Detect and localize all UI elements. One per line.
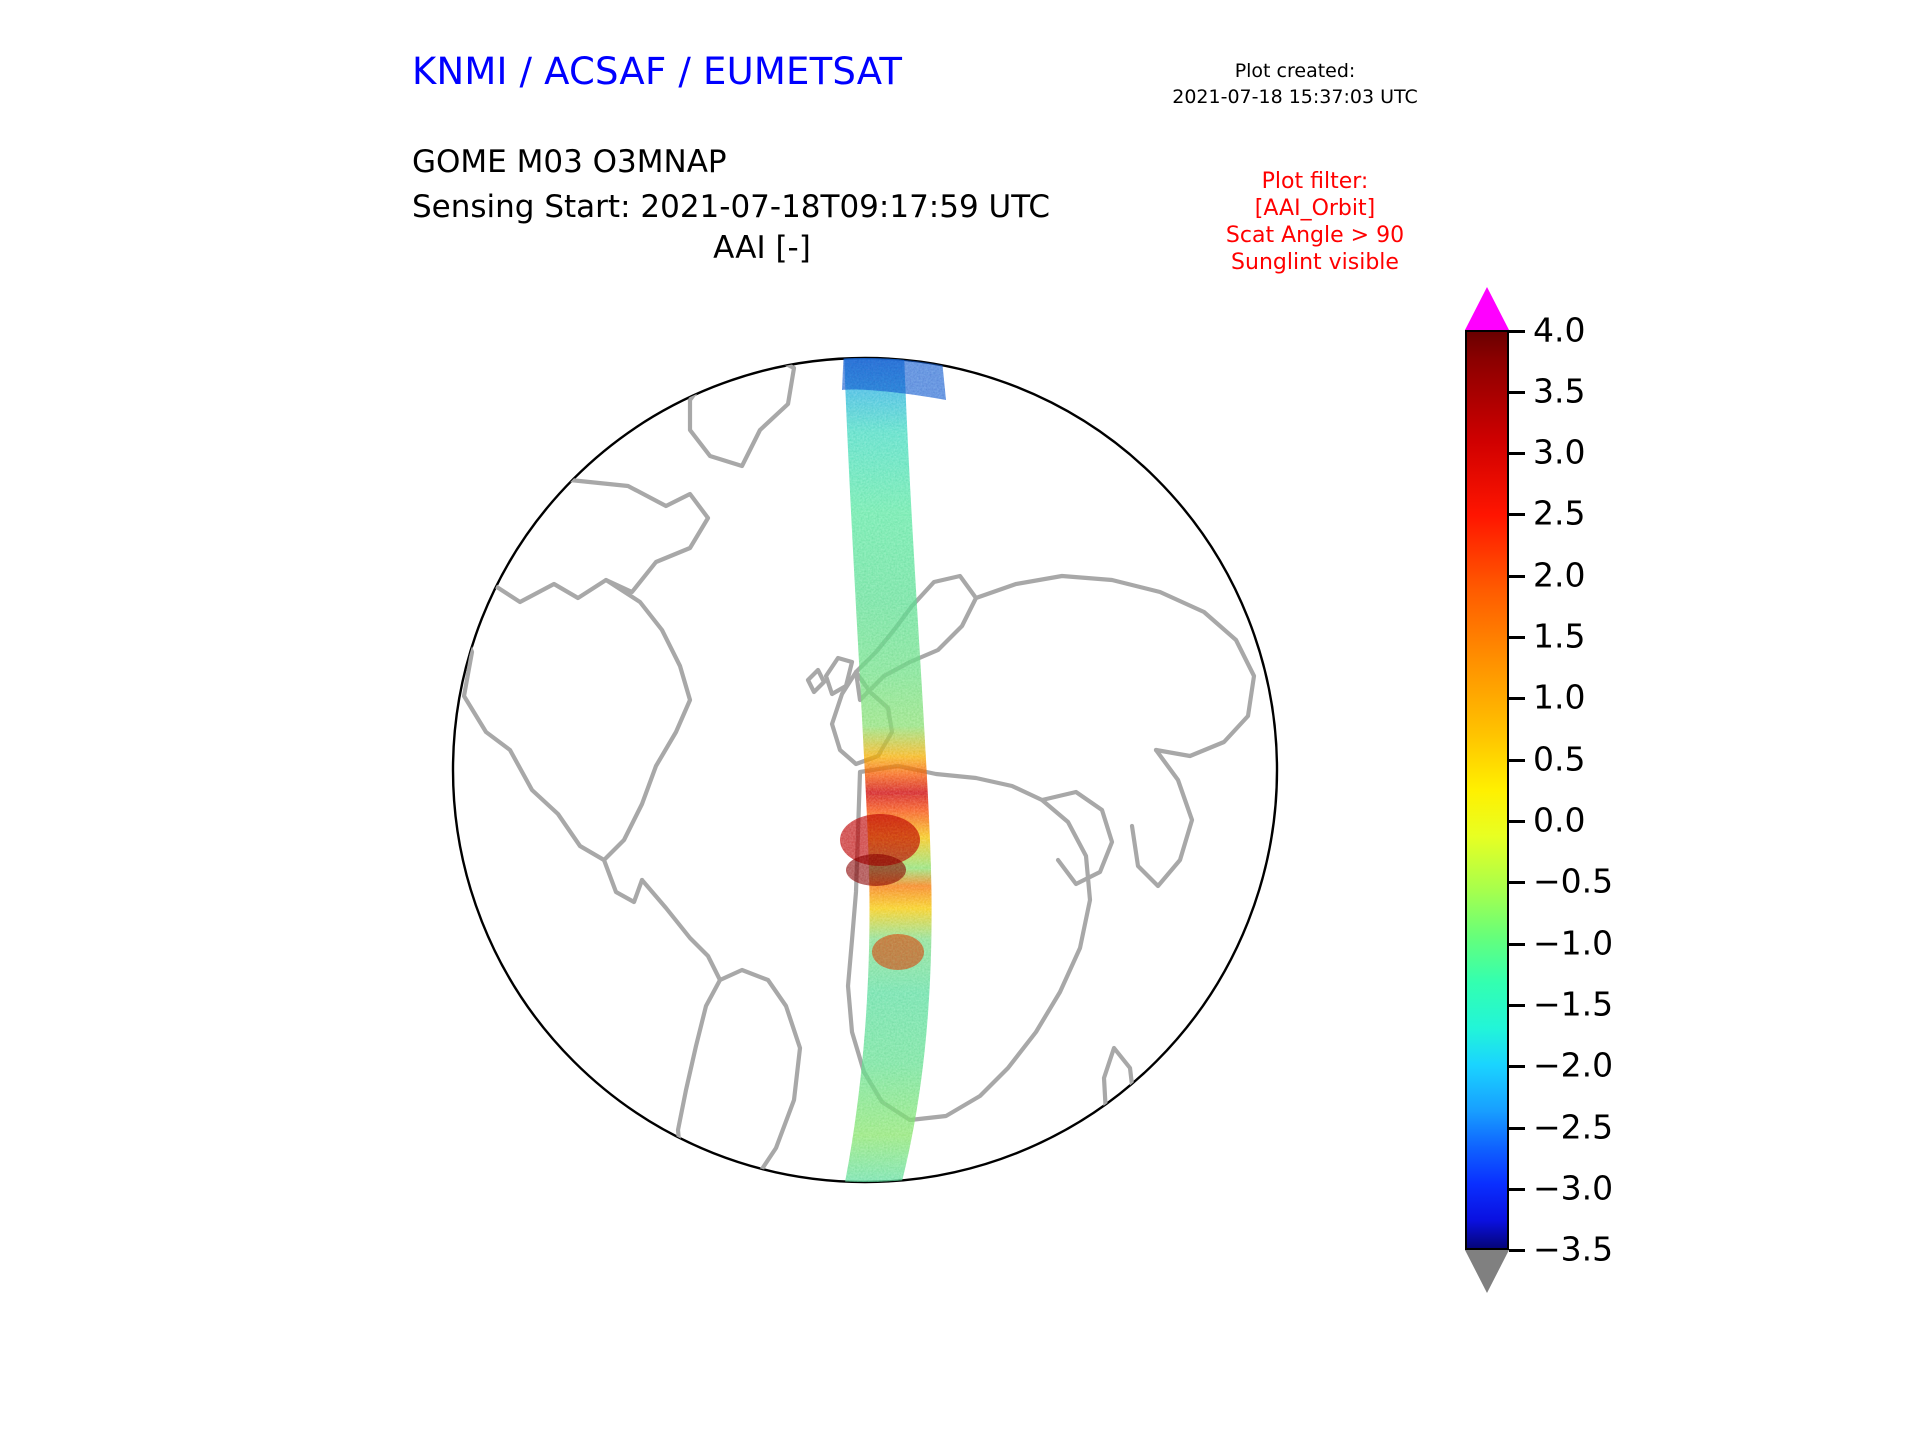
colorbar-tick bbox=[1509, 1188, 1525, 1191]
colorbar-tick bbox=[1509, 636, 1525, 639]
colorbar-tick-label: −1.0 bbox=[1533, 924, 1613, 963]
colorbar-tick bbox=[1509, 513, 1525, 516]
instrument-title: GOME M03 O3MNAP bbox=[412, 140, 1050, 185]
plot-title-block: GOME M03 O3MNAP Sensing Start: 2021-07-1… bbox=[412, 140, 1050, 230]
colorbar-tick-label: 3.5 bbox=[1533, 372, 1585, 411]
plot-filter-block: Plot filter: [AAI_Orbit] Scat Angle > 90… bbox=[1185, 168, 1445, 276]
plot-created-label: Plot created: bbox=[1150, 58, 1440, 84]
colorbar-tick bbox=[1509, 1004, 1525, 1007]
colorbar-tick-label: 2.0 bbox=[1533, 556, 1585, 595]
colorbar-tick bbox=[1509, 943, 1525, 946]
colorbar-tick bbox=[1509, 697, 1525, 700]
colorbar-tick-label: 1.5 bbox=[1533, 617, 1585, 656]
colorbar-tick-label: 3.0 bbox=[1533, 433, 1585, 472]
globe-svg bbox=[390, 280, 1340, 1260]
colorbar-tick bbox=[1509, 759, 1525, 762]
colorbar-gradient bbox=[1465, 330, 1509, 1250]
plot-created-timestamp: 2021-07-18 15:37:03 UTC bbox=[1150, 84, 1440, 110]
colorbar-tick-label: −3.0 bbox=[1533, 1169, 1613, 1208]
colorbar-tick bbox=[1509, 881, 1525, 884]
plot-filter-line-2: Scat Angle > 90 bbox=[1185, 222, 1445, 249]
colorbar-tick-label: 4.0 bbox=[1533, 311, 1585, 350]
colorbar-tick bbox=[1509, 575, 1525, 578]
colorbar-tick-label: −3.5 bbox=[1533, 1230, 1613, 1269]
colorbar: 4.0 3.5 3.0 2.5 2.0 1.5 1.0 0.5 0.0 −0.5… bbox=[1455, 285, 1755, 1295]
plot-filter-line-1: [AAI_Orbit] bbox=[1185, 195, 1445, 222]
colorbar-over-arrow bbox=[1465, 287, 1509, 330]
colorbar-under-arrow bbox=[1465, 1250, 1509, 1293]
colorbar-tick-label: 2.5 bbox=[1533, 494, 1585, 533]
colorbar-tick-label: −1.5 bbox=[1533, 985, 1613, 1024]
colorbar-tick bbox=[1509, 1065, 1525, 1068]
plot-created-block: Plot created: 2021-07-18 15:37:03 UTC bbox=[1150, 58, 1440, 110]
colorbar-tick bbox=[1509, 1127, 1525, 1130]
colorbar-tick-label: 0.5 bbox=[1533, 740, 1585, 779]
colorbar-tick bbox=[1509, 330, 1525, 333]
globe-map bbox=[390, 280, 1340, 1260]
sensing-start-title: Sensing Start: 2021-07-18T09:17:59 UTC bbox=[412, 185, 1050, 230]
colorbar-tick bbox=[1509, 820, 1525, 823]
colorbar-tick bbox=[1509, 1249, 1525, 1252]
colorbar-tick-label: 1.0 bbox=[1533, 678, 1585, 717]
colorbar-tick bbox=[1509, 391, 1525, 394]
colorbar-tick-label: −2.5 bbox=[1533, 1108, 1613, 1147]
plot-filter-line-3: Sunglint visible bbox=[1185, 249, 1445, 276]
plot-filter-line-0: Plot filter: bbox=[1185, 168, 1445, 195]
colorbar-tick bbox=[1509, 452, 1525, 455]
colorbar-tick-label: 0.0 bbox=[1533, 801, 1585, 840]
quantity-label: AAI [-] bbox=[412, 230, 1112, 266]
colorbar-tick-label: −2.0 bbox=[1533, 1046, 1613, 1085]
organisation-title: KNMI / ACSAF / EUMETSAT bbox=[412, 50, 902, 93]
colorbar-tick-label: −0.5 bbox=[1533, 862, 1613, 901]
